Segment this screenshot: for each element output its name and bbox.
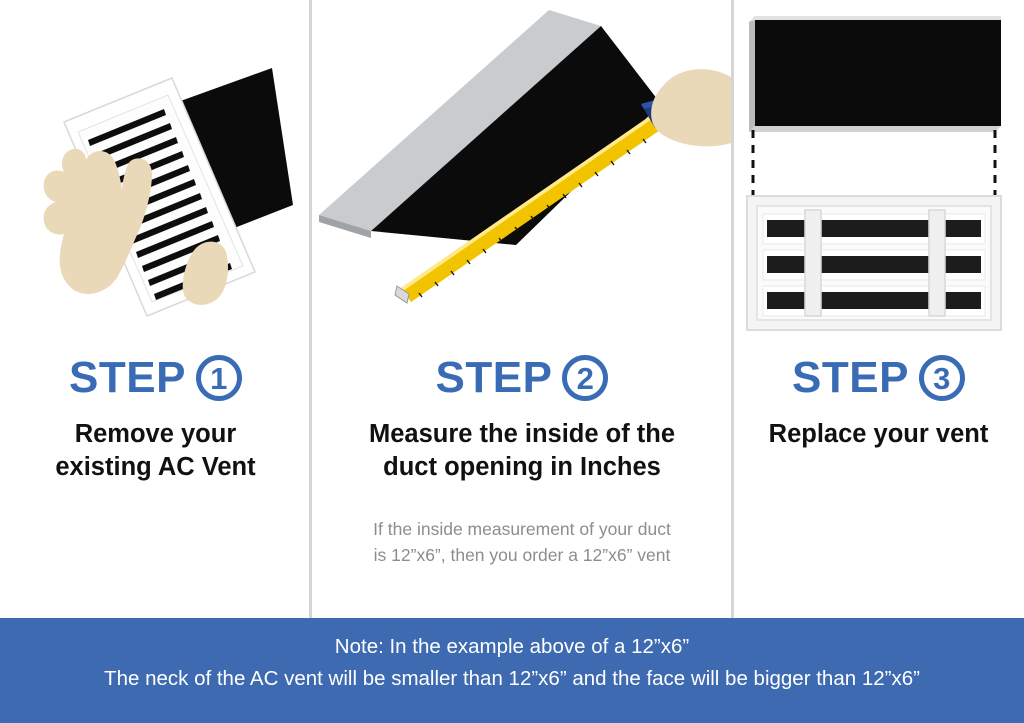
step-3-illustration xyxy=(733,0,1024,355)
step-1-description: Remove your existing AC Vent xyxy=(55,418,255,483)
step-1-word: STEP xyxy=(69,356,186,400)
step-3-number-badge: 3 xyxy=(919,355,965,401)
step-panel-1: STEP 1 Remove your existing AC Vent xyxy=(0,0,311,618)
step-3-description: Replace your vent xyxy=(769,418,989,451)
step-1-heading: STEP 1 xyxy=(69,355,242,401)
step-1-illustration xyxy=(0,0,311,355)
step-2-subtext: If the inside measurement of your duct i… xyxy=(373,517,671,568)
step-1-number-badge: 1 xyxy=(196,355,242,401)
step-2-illustration xyxy=(311,0,733,355)
installation-steps-infographic: STEP 1 Remove your existing AC Vent xyxy=(0,0,1024,723)
step-3-heading: STEP 3 xyxy=(792,355,965,401)
note-line-2: The neck of the AC vent will be smaller … xyxy=(104,663,920,695)
step-2-description: Measure the inside of the duct opening i… xyxy=(369,418,675,483)
steps-row: STEP 1 Remove your existing AC Vent xyxy=(0,0,1024,618)
step-2-number-badge: 2 xyxy=(562,355,608,401)
step-3-word: STEP xyxy=(792,356,909,400)
vent-alignment-graphic xyxy=(733,0,1024,355)
alignment-guides xyxy=(753,130,995,196)
vent-louver-rows xyxy=(763,214,985,316)
step-2-heading: STEP 2 xyxy=(436,355,609,401)
note-line-1: Note: In the example above of a 12”x6” xyxy=(335,631,689,663)
note-banner: Note: In the example above of a 12”x6” T… xyxy=(0,618,1024,723)
tape-measure-duct-graphic xyxy=(311,0,733,355)
duct-opening-upper xyxy=(749,16,1001,132)
step-panel-3: STEP 3 Replace your vent xyxy=(733,0,1024,618)
hand-removing-vent-graphic xyxy=(0,0,311,355)
step-panel-2: STEP 2 Measure the inside of the duct op… xyxy=(311,0,733,618)
vent-register xyxy=(747,196,1001,330)
step-2-word: STEP xyxy=(436,356,553,400)
